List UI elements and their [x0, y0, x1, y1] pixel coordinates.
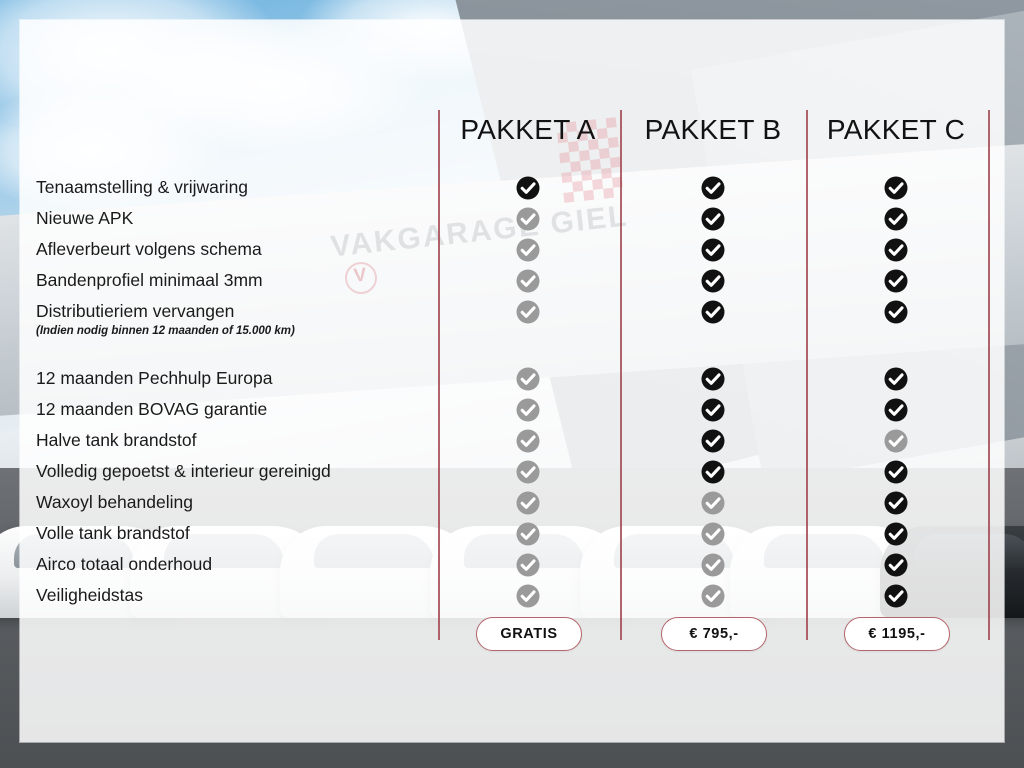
check-cell — [693, 172, 733, 203]
check-icon-excluded — [516, 522, 540, 546]
check-icon-included — [884, 491, 908, 515]
column-divider-3 — [988, 110, 990, 640]
check-icon-excluded — [516, 584, 540, 608]
check-icon-excluded — [516, 491, 540, 515]
feature-label: Bandenprofiel minimaal 3mm — [36, 265, 436, 296]
check-icon-included — [701, 176, 725, 200]
feature-label: 12 maanden BOVAG garantie — [36, 394, 436, 425]
check-icon-included — [701, 398, 725, 422]
feature-label: Halve tank brandstof — [36, 425, 436, 456]
check-cell — [508, 425, 548, 456]
check-cell — [508, 172, 548, 203]
check-cell — [876, 172, 916, 203]
check-cell — [693, 580, 733, 611]
check-cell — [508, 456, 548, 487]
check-column-a — [508, 172, 548, 611]
check-icon-excluded — [516, 367, 540, 391]
feature-label: Airco totaal onderhoud — [36, 549, 436, 580]
check-cell — [508, 363, 548, 394]
check-group-separator — [876, 339, 916, 363]
price-pill-a[interactable]: GRATIS — [476, 617, 582, 651]
check-icon-excluded — [516, 429, 540, 453]
check-group-separator — [508, 339, 548, 363]
check-cell — [693, 203, 733, 234]
check-icon-excluded — [701, 584, 725, 608]
check-icon-included — [701, 207, 725, 231]
check-cell — [693, 518, 733, 549]
check-cell — [693, 549, 733, 580]
check-cell — [508, 580, 548, 611]
check-icon-included — [884, 300, 908, 324]
price-pill-c[interactable]: € 1195,- — [844, 617, 950, 651]
check-icon-excluded — [701, 522, 725, 546]
check-icon-included — [701, 300, 725, 324]
check-icon-excluded — [516, 238, 540, 262]
check-icon-included — [701, 429, 725, 453]
check-cell — [508, 265, 548, 296]
check-cell — [693, 234, 733, 265]
check-icon-included — [884, 176, 908, 200]
check-group-separator — [693, 339, 733, 363]
feature-note: (Indien nodig binnen 12 maanden of 15.00… — [36, 324, 436, 339]
check-cell — [693, 363, 733, 394]
feature-label: Nieuwe APK — [36, 203, 436, 234]
check-cell — [693, 425, 733, 456]
feature-label: Volledig gepoetst & interieur gereinigd — [36, 456, 436, 487]
check-icon-included — [884, 398, 908, 422]
check-icon-included — [884, 269, 908, 293]
check-cell — [876, 425, 916, 456]
check-cell — [508, 203, 548, 234]
check-icon-included — [884, 522, 908, 546]
check-cell — [508, 394, 548, 425]
check-cell — [508, 549, 548, 580]
check-note-spacer — [508, 324, 548, 339]
check-cell — [876, 363, 916, 394]
feature-label: Veiligheidstas — [36, 580, 436, 611]
check-cell — [876, 518, 916, 549]
check-cell — [876, 265, 916, 296]
check-cell — [876, 296, 916, 327]
check-icon-included — [884, 367, 908, 391]
check-icon-excluded — [516, 207, 540, 231]
check-icon-included — [884, 460, 908, 484]
feature-group-separator — [36, 339, 436, 363]
column-header-c: PAKKET C — [796, 114, 996, 146]
check-cell — [693, 394, 733, 425]
check-cell — [876, 456, 916, 487]
column-divider-2 — [806, 110, 808, 640]
check-cell — [876, 234, 916, 265]
check-icon-excluded — [516, 269, 540, 293]
check-icon-included — [884, 584, 908, 608]
check-cell — [876, 487, 916, 518]
feature-label: Waxoyl behandeling — [36, 487, 436, 518]
check-cell — [876, 203, 916, 234]
check-icon-excluded — [516, 300, 540, 324]
column-divider-1 — [620, 110, 622, 640]
check-cell — [508, 234, 548, 265]
check-cell — [508, 296, 548, 327]
check-cell — [508, 518, 548, 549]
check-cell — [876, 580, 916, 611]
check-icon-excluded — [516, 553, 540, 577]
check-cell — [693, 456, 733, 487]
feature-label: 12 maanden Pechhulp Europa — [36, 363, 436, 394]
check-column-b — [693, 172, 733, 611]
check-icon-included — [884, 553, 908, 577]
check-icon-included — [884, 207, 908, 231]
feature-label: Distributieriem vervangen — [36, 296, 436, 327]
feature-label: Tenaamstelling & vrijwaring — [36, 172, 436, 203]
check-icon-included — [884, 238, 908, 262]
column-divider-0 — [438, 110, 440, 640]
check-icon-included — [701, 367, 725, 391]
check-cell — [693, 296, 733, 327]
check-icon-included — [701, 269, 725, 293]
check-cell — [876, 549, 916, 580]
price-pill-b[interactable]: € 795,- — [661, 617, 767, 651]
check-icon-included — [701, 460, 725, 484]
check-icon-excluded — [884, 429, 908, 453]
feature-label-list: Tenaamstelling & vrijwaringNieuwe APKAfl… — [36, 172, 436, 611]
check-icon-included — [701, 238, 725, 262]
check-icon-excluded — [516, 460, 540, 484]
feature-label: Volle tank brandstof — [36, 518, 436, 549]
check-note-spacer — [876, 324, 916, 339]
column-header-b: PAKKET B — [613, 114, 813, 146]
check-icon-excluded — [701, 553, 725, 577]
check-cell — [508, 487, 548, 518]
check-icon-excluded — [701, 491, 725, 515]
check-note-spacer — [693, 324, 733, 339]
pricing-table-slide: VAKGARAGE GIEL PAKKET APAKKET BPAKKET C … — [0, 0, 1024, 768]
check-icon-excluded — [516, 398, 540, 422]
check-column-c — [876, 172, 916, 611]
check-cell — [876, 394, 916, 425]
column-header-a: PAKKET A — [428, 114, 628, 146]
feature-label: Afleverbeurt volgens schema — [36, 234, 436, 265]
check-cell — [693, 265, 733, 296]
check-icon-included — [516, 176, 540, 200]
check-cell — [693, 487, 733, 518]
